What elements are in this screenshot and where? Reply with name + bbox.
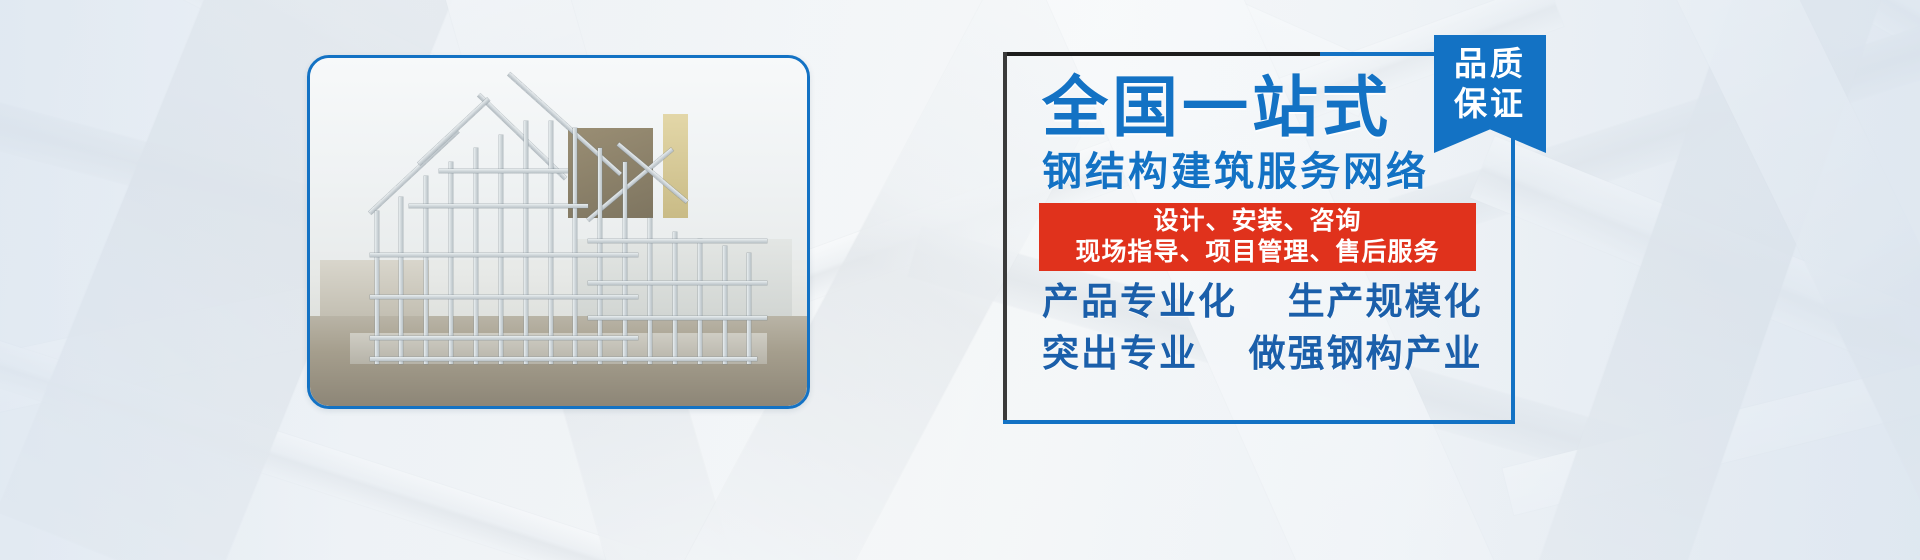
slogan-row-2: 突出专业 做强钢构产业 bbox=[1042, 335, 1483, 372]
ribbon-line-1: 品质 bbox=[1454, 44, 1526, 84]
service-line-1: 设计、安装、咨询 bbox=[1153, 206, 1361, 237]
slogan-2-left: 突出专业 bbox=[1042, 333, 1198, 374]
service-highlight-box: 设计、安装、咨询 现场指导、项目管理、售后服务 bbox=[1039, 203, 1476, 271]
slogan-1-right: 生产规模化 bbox=[1288, 281, 1483, 322]
project-photo-card bbox=[307, 55, 810, 409]
frame-bottom-edge bbox=[1003, 420, 1515, 424]
slogan-2-right: 做强钢构产业 bbox=[1249, 333, 1483, 374]
headline: 全国一站式 bbox=[1042, 74, 1392, 140]
subheadline: 钢结构建筑服务网络 bbox=[1042, 152, 1429, 192]
steel-frame-house-photo bbox=[310, 58, 807, 406]
frame-left-edge bbox=[1003, 52, 1007, 424]
promo-banner: 全国一站式 钢结构建筑服务网络 设计、安装、咨询 现场指导、项目管理、售后服务 … bbox=[0, 0, 1920, 560]
frame-top-dark-segment bbox=[1003, 52, 1320, 56]
slogan-row-1: 产品专业化 生产规模化 bbox=[1042, 283, 1483, 320]
slogan-1-left: 产品专业化 bbox=[1042, 281, 1237, 322]
background-steel-structure bbox=[0, 0, 1920, 560]
service-line-2: 现场指导、项目管理、售后服务 bbox=[1075, 237, 1439, 268]
ribbon-line-2: 保证 bbox=[1454, 84, 1526, 124]
